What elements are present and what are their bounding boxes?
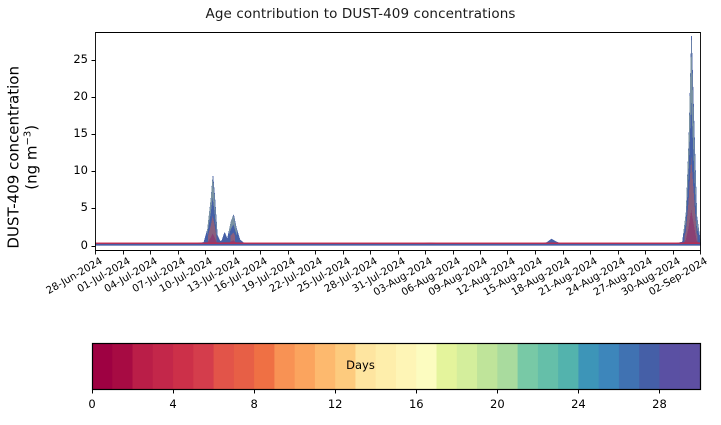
colorbar-tick-label: 0 (72, 397, 112, 411)
colorbar-tick-label: 8 (234, 397, 274, 411)
colorbar-tick-label: 20 (477, 397, 517, 411)
colorbar-tick-label: 24 (558, 397, 598, 411)
matplotlib-figure: Age contribution to DUST-409 concentrati… (0, 0, 721, 425)
colorbar-tick-label: 12 (315, 397, 355, 411)
colorbar-tick-label: 4 (153, 397, 193, 411)
colorbar-tick-label: 16 (396, 397, 436, 411)
colorbar-tick-labels: 0481216202428 (0, 0, 721, 425)
colorbar-tick-label: 28 (639, 397, 679, 411)
